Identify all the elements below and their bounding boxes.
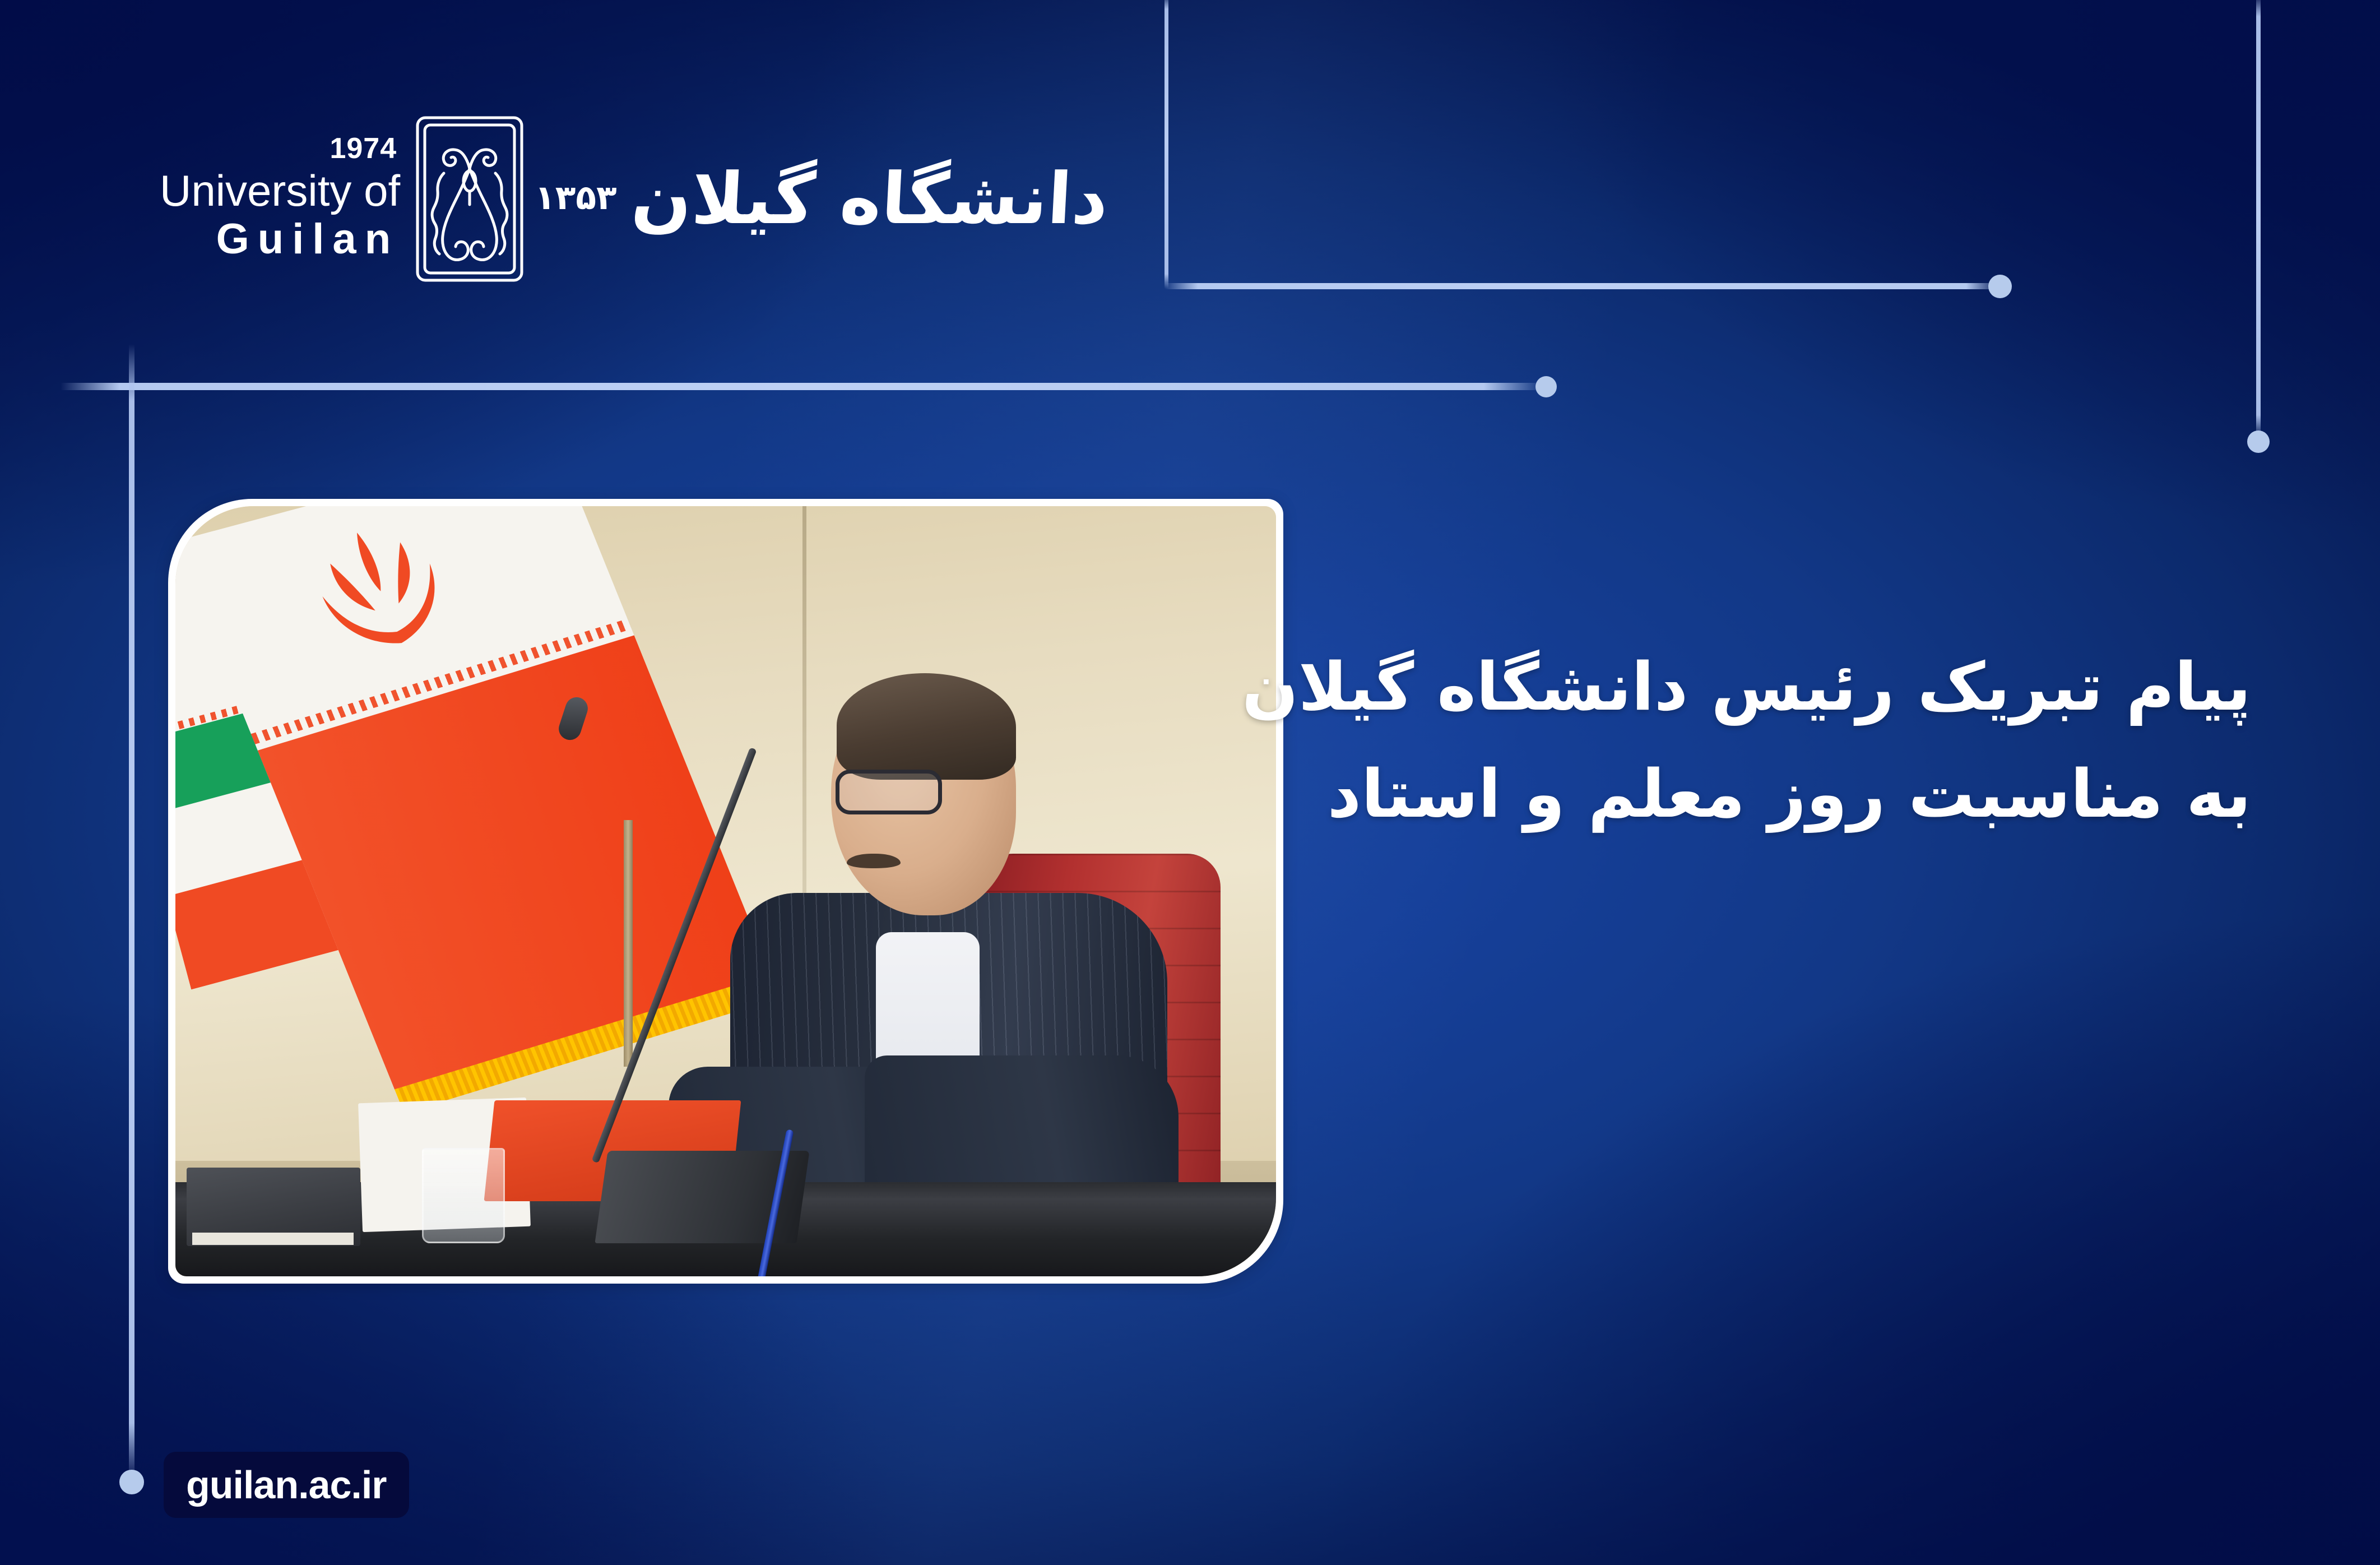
person-hair bbox=[837, 673, 1016, 780]
person-moustache bbox=[847, 854, 901, 868]
desk-book-pages bbox=[192, 1233, 354, 1245]
website-url-badge[interactable]: guilan.ac.ir bbox=[164, 1452, 409, 1518]
flag-pole bbox=[624, 820, 633, 1067]
president-photo bbox=[175, 506, 1276, 1276]
headline-line-1: پیام تبریک رئیس دانشگاه گیلان bbox=[1226, 633, 2251, 740]
logo-persian-text: دانشگاه گیلان ۱۳۵۳ bbox=[535, 164, 1108, 234]
logo-english-text: 1974 University of Guilan bbox=[160, 134, 400, 264]
headline-line-2: به مناسبت روز معلم و استاد bbox=[1226, 740, 2251, 848]
desk-glass bbox=[422, 1148, 505, 1243]
logo-name-line1-en: University of bbox=[160, 169, 400, 212]
guilan-university-emblem-icon bbox=[415, 115, 525, 283]
logo-year-fa: ۱۳۵۳ bbox=[535, 178, 616, 217]
logo-name-fa: دانشگاه گیلان bbox=[629, 164, 1110, 234]
banner-canvas: 1974 University of Guilan bbox=[0, 0, 2380, 1565]
website-url-text: guilan.ac.ir bbox=[186, 1465, 387, 1504]
president-photo-card bbox=[168, 499, 1283, 1284]
university-logo: 1974 University of Guilan bbox=[160, 107, 1168, 291]
headline-block: پیام تبریک رئیس دانشگاه گیلان به مناسبت … bbox=[1226, 633, 2251, 848]
logo-name-line2-en: Guilan bbox=[216, 218, 400, 261]
person-glasses bbox=[836, 770, 942, 814]
logo-year-en: 1974 bbox=[330, 134, 397, 163]
